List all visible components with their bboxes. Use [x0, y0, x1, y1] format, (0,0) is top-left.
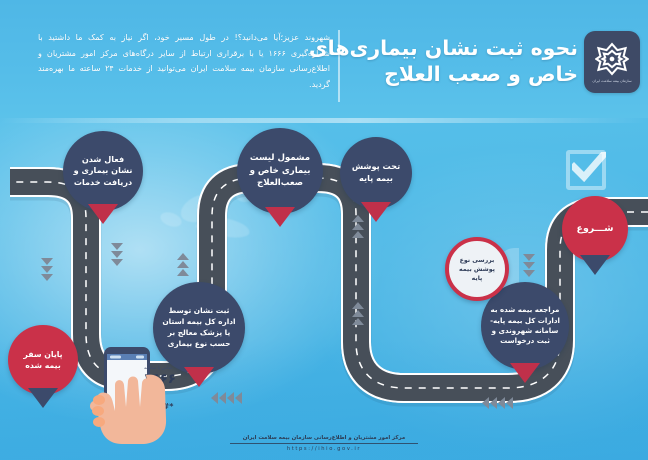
chevron-left-group: [482, 397, 513, 409]
phone-in-hand-illustration: تماس با سامانه ۱۶۶۶ کد دستوری *۱۶۶۶#: [86, 345, 190, 445]
step-pin-end[interactable]: پایان سفر بیمه شده: [8, 325, 78, 395]
step-label-covered: تحت پوشش بیمه پایه: [340, 161, 412, 184]
step-pin-disease-list[interactable]: مشمول لیست بیماری خاص و صعب‌العلاج: [237, 128, 323, 214]
chevron-left-group-mid: [211, 392, 242, 404]
step-label-check: بررسی نوع پوشش بیمه پایه: [449, 256, 505, 283]
step-label-register: ثبت نشان توسط اداره کل بیمه استان یا پزش…: [153, 306, 245, 349]
chevron-down-group-b: [111, 243, 123, 266]
step-pin-covered[interactable]: تحت پوشش بیمه پایه: [340, 137, 412, 209]
footer-divider: [230, 443, 418, 444]
hand-illustration: [90, 375, 166, 444]
chevron-up-group-a: [352, 215, 364, 238]
footer-website[interactable]: https://ihio.gov.ir: [0, 446, 648, 452]
step-label-start: شـــروع: [570, 223, 621, 235]
chevron-up-group-b: [352, 302, 364, 325]
step-label-list: مشمول لیست بیماری خاص و صعب‌العلاج: [237, 152, 323, 189]
step-label-end: پایان سفر بیمه شده: [8, 349, 78, 371]
chevron-down-group: [523, 254, 535, 277]
step-label-activate: فعال شدن نشان بیماری و دریافت خدمات: [63, 154, 143, 189]
step-label-visit: مراجعه بیمه شده به ادارات کل بیمه پایه- …: [481, 305, 569, 347]
infographic-canvas: شهروند عزیز؛آیا می‌دانید؟! در طول مسیر خ…: [0, 0, 648, 460]
step-pin-activate[interactable]: فعال شدن نشان بیماری و دریافت خدمات: [63, 131, 143, 211]
chevron-up-group-c: [177, 253, 189, 276]
step-pin-start[interactable]: شـــروع: [562, 196, 628, 262]
step-sign-check-coverage[interactable]: بررسی نوع پوشش بیمه پایه: [445, 237, 509, 301]
chevron-down-group-c: [41, 258, 53, 281]
